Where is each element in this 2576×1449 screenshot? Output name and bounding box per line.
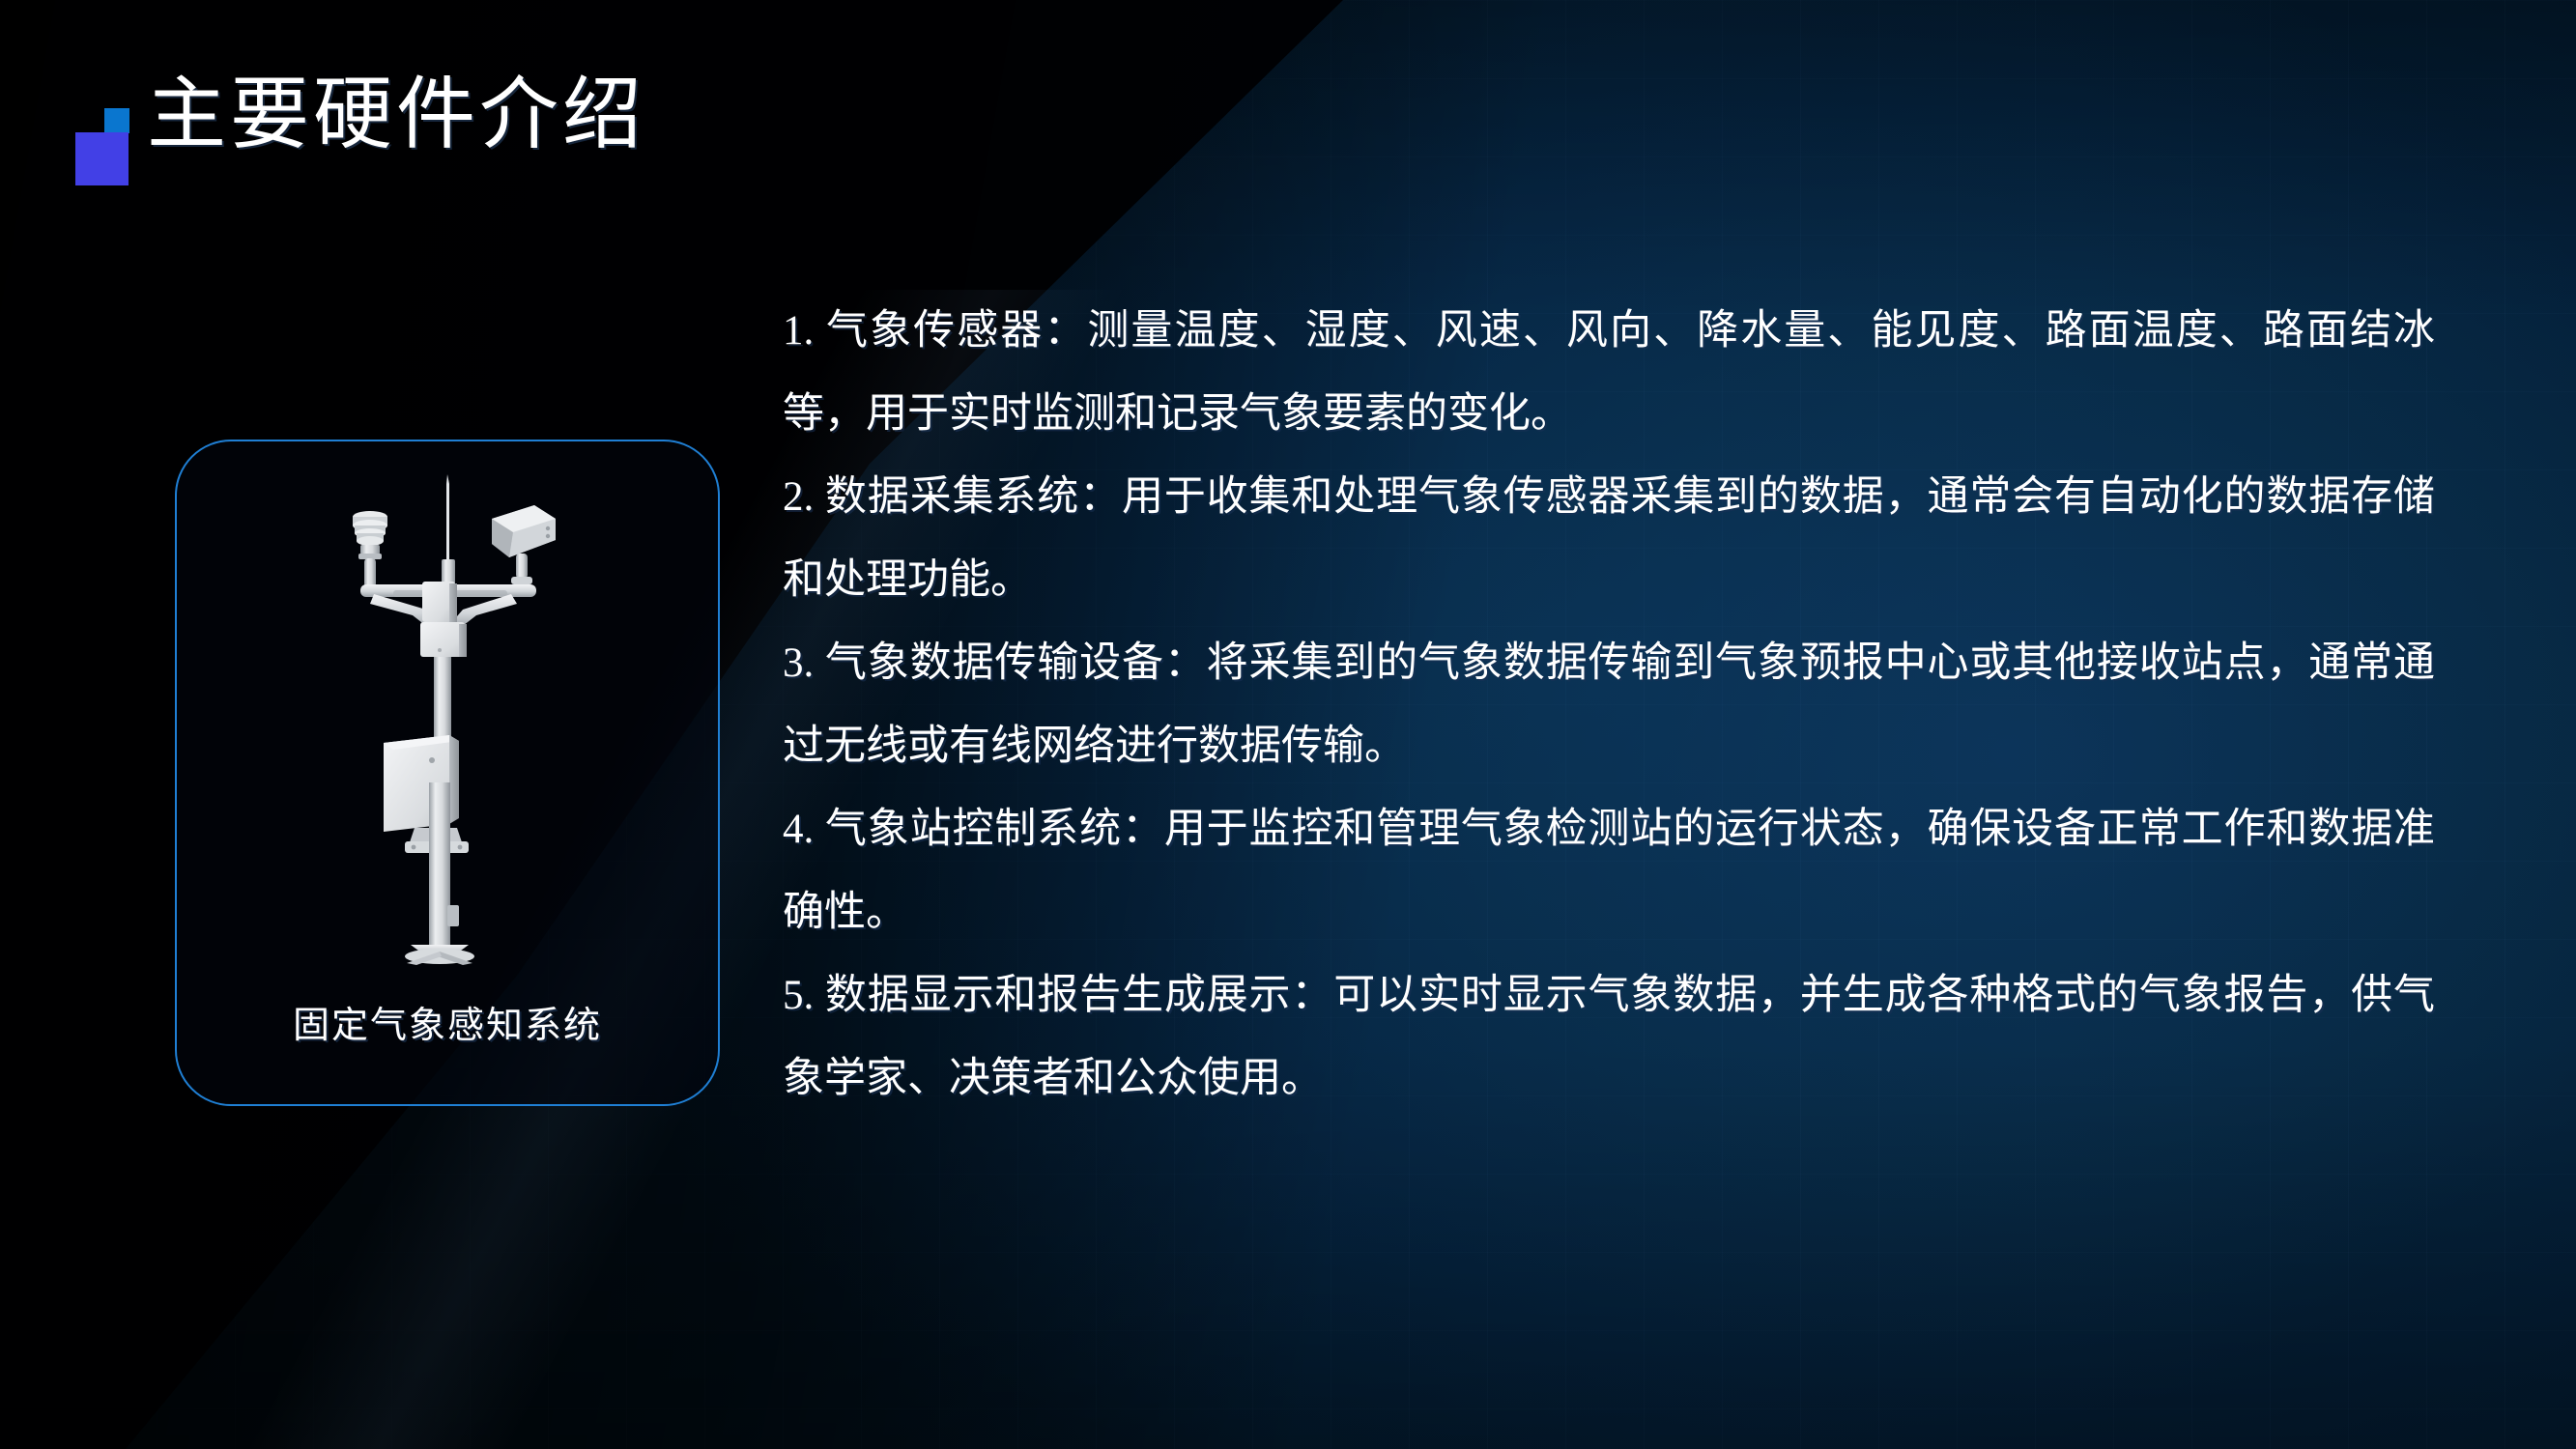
slide-header: 主要硬件介绍 (70, 75, 645, 185)
content-item-2: 2. 数据采集系统：用于收集和处理气象传感器采集到的数据，通常会有自动化的数据存… (783, 456, 2435, 622)
logo-large-square-icon (75, 132, 129, 185)
weather-station-illustration-icon (302, 469, 592, 971)
media-card-caption: 固定气象感知系统 (177, 995, 718, 1048)
page-title: 主要硬件介绍 (147, 75, 645, 155)
media-card-inner: 固定气象感知系统 (177, 441, 718, 1104)
content-item-5: 5. 数据显示和报告生成展示：可以实时显示气象数据，并生成各种格式的气象报告，供… (783, 954, 2435, 1121)
media-card: 固定气象感知系统 (175, 440, 720, 1106)
content-list: 1. 气象传感器：测量温度、湿度、风速、风向、降水量、能见度、路面温度、路面结冰… (783, 290, 2435, 1121)
logo-small-square-icon (104, 108, 129, 133)
content-item-4: 4. 气象站控制系统：用于监控和管理气象检测站的运行状态，确保设备正常工作和数据… (783, 788, 2435, 954)
content-item-1: 1. 气象传感器：测量温度、湿度、风速、风向、降水量、能见度、路面温度、路面结冰… (783, 290, 2435, 456)
slide-canvas: 主要硬件介绍 (0, 0, 2576, 1449)
content-item-3: 3. 气象数据传输设备：将采集到的气象数据传输到气象预报中心或其他接收站点，通常… (783, 622, 2435, 788)
logo-mark-icon (70, 108, 139, 185)
